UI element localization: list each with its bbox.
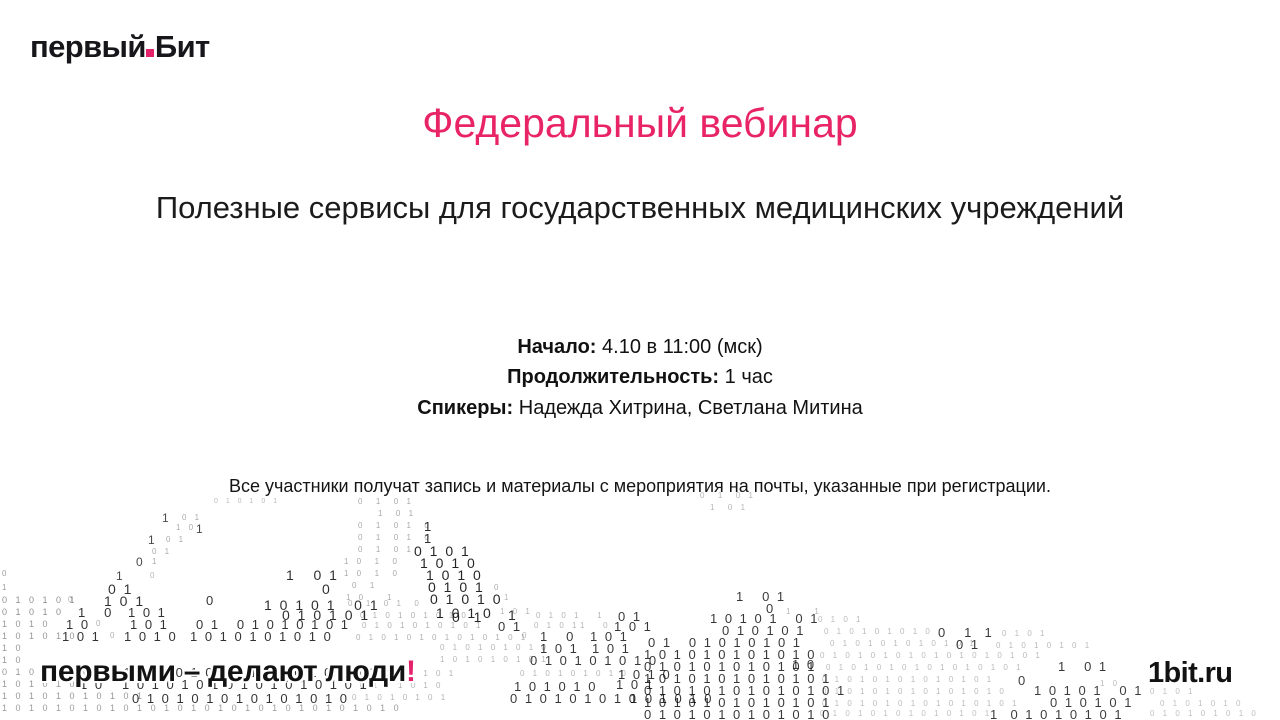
binary-digit-row: 1 0 1 — [378, 510, 416, 518]
binary-digit-row: 1 0 — [540, 630, 575, 643]
binary-digit-row: 1 0 1 0 — [344, 558, 400, 566]
binary-digit-row: 1 0 1 0 1 0 1 0 1 0 1 0 — [644, 648, 817, 661]
binary-digit-row: 0 — [206, 594, 215, 607]
binary-digit-row: 1 — [148, 534, 157, 546]
binary-digit-row: 1 0 1 — [1058, 660, 1108, 673]
detail-value-start: 4.10 в 11:00 (мск) — [602, 336, 763, 358]
detail-label-start: Начало: — [517, 336, 596, 358]
binary-digit-row: 0 1 0 1 0 1 0 1 0 1 — [196, 618, 350, 631]
binary-digit-row: 1 0 — [2, 644, 24, 653]
binary-digit-row: 1 0 — [634, 654, 658, 667]
binary-digit-row: 0 1 — [352, 582, 377, 590]
binary-digit-row: 1 0 1 0 — [344, 570, 400, 578]
brand-tagline-text: первыми – делают люди — [40, 655, 406, 688]
binary-digit-row: 0 1 — [452, 610, 483, 624]
binary-digit-row: 1 0 1 — [590, 630, 629, 643]
binary-digit-row: 1 — [504, 594, 511, 602]
binary-digit-row: 0 — [322, 582, 332, 596]
binary-digit-row: 1 0 1 0 1 0 — [630, 692, 713, 705]
binary-digit-row: 1 0 1 0 1 0 1 — [264, 598, 380, 612]
brand-logo-part1: первый — [30, 29, 146, 64]
binary-digit-row: 0 1 0 1 0 1 0 — [1160, 700, 1243, 708]
binary-digit-row: 0 1 — [152, 548, 172, 556]
binary-digit-row: 0 1 — [166, 536, 186, 544]
detail-row-duration: Продолжительность: 1 час — [0, 362, 1280, 392]
detail-label-speakers: Спикеры: — [417, 397, 513, 419]
detail-row-speakers: Спикеры: Надежда Хитрина, Светлана Митин… — [0, 393, 1280, 423]
binary-digit-row: 0 1 0 1 0 1 0 1 0 1 0 1 0 1 — [356, 634, 528, 642]
binary-digit-row: 1 0 1 0 1 0 — [514, 680, 597, 693]
binary-digit-row: 0 1 0 1 — [428, 580, 485, 594]
binary-digit-row: 0 1 0 1 0 — [2, 608, 64, 617]
event-details: Начало: 4.10 в 11:00 (мск) Продолжительн… — [0, 332, 1280, 423]
binary-digit-row: 1 — [424, 532, 433, 545]
binary-digit-row: 0 — [68, 596, 75, 604]
binary-digit-row: 0 — [766, 602, 775, 615]
binary-digit-row: 1 0 1 — [286, 568, 339, 582]
binary-digit-row: 0 1 — [618, 610, 642, 623]
binary-digit-row: 0 1 0 1 0 1 0 1 0 — [360, 612, 469, 620]
binary-digit-row: 1 0 1 0 1 0 1 — [1034, 684, 1144, 697]
binary-digit-row: 0 1 0 1 0 1 0 1 0 — [440, 644, 549, 652]
binary-digit-row: 1 0 1 0 1 0 1 0 1 — [440, 656, 549, 664]
binary-digit-row: 1 0 1 0 — [426, 568, 483, 582]
brand-tagline: первыми – делают люди! — [40, 655, 416, 689]
page-subtitle: Полезные сервисы для государственных мед… — [140, 188, 1140, 228]
binary-digit-row: 0 1 0 1 0 1 — [1050, 696, 1133, 709]
binary-digit-row: 0 1 — [956, 638, 980, 651]
registration-note: Все участники получат запись и материалы… — [0, 476, 1280, 497]
binary-digit-row: 1 0 1 — [346, 594, 394, 602]
binary-digit-row: 0 1 0 1 0 1 0 1 0 1 0 1 — [644, 660, 817, 673]
binary-digit-row: 1 0 — [78, 606, 113, 619]
binary-digit-row: 0 1 0 1 0 1 0 1 0 1 0 1 0 1 0 1 — [826, 664, 1024, 672]
binary-digit-row: 1 0 1 0 1 0 1 0 1 0 1 0 1 — [644, 672, 831, 685]
binary-digit-row: 1 0 1 — [540, 642, 579, 655]
binary-digit-row: 1 0 1 — [592, 642, 631, 655]
binary-digit-row: 1 0 1 0 1 0 1 0 1 0 1 0 1 — [644, 696, 831, 709]
page-title: Федеральный вебинар — [0, 101, 1280, 146]
binary-digit-row: 0 — [494, 584, 501, 592]
detail-row-start: Начало: 4.10 в 11:00 (мск) — [0, 332, 1280, 362]
binary-digit-row: 0 — [136, 556, 145, 568]
binary-digit-row: 1 0 1 — [104, 594, 145, 608]
binary-digit-row: 1 0 1 0 — [420, 556, 477, 570]
binary-digit-row: 0 1 0 1 0 1 0 1 0 — [520, 670, 629, 678]
detail-label-duration: Продолжительность: — [507, 366, 719, 388]
binary-digit-row: 0 1 0 1 0 — [358, 522, 432, 530]
binary-digit-row: 0 1 0 1 0 1 0 1 0 1 — [648, 636, 802, 649]
binary-digit-row: 0 — [110, 632, 117, 640]
binary-digit-row: 0 1 0 1 0 1 0 1 0 1 0 1 0 1 — [822, 676, 994, 684]
binary-digit-row: 0 1 0 1 — [358, 546, 414, 554]
binary-digit-row: 0 1 0 1 0 1 — [282, 608, 370, 622]
brand-logo: первыйБит — [30, 31, 210, 62]
binary-digit-row: 0 1 0 1 1 — [536, 612, 605, 620]
binary-digit-row: 0 1 0 1 0 1 0 1 0 1 0 1 0 1 0 — [132, 692, 349, 705]
binary-digit-row: 1 0 — [580, 622, 611, 630]
binary-digit-row: 1 0 1 0 — [124, 630, 178, 643]
binary-digit-row: 0 1 0 1 0 1 0 1 0 1 0 1 0 1 — [644, 684, 846, 697]
binary-digit-row: 0 1 0 1 — [818, 616, 863, 624]
binary-digit-row: 0 1 0 1 — [414, 544, 471, 558]
binary-digit-row: 1 0 1 0 1 0 1 — [710, 612, 820, 625]
binary-digit-row: 1 0 1 0 1 0 1 0 1 0 — [190, 630, 333, 643]
binary-digit-row: 0 1 0 1 0 1 0 1 — [996, 642, 1092, 650]
binary-digit-row: 0 1 0 1 0 1 0 1 — [352, 694, 448, 702]
binary-digit-row: 1 0 1 0 — [618, 668, 672, 681]
binary-digit-row: 0 1 0 1 — [534, 622, 579, 630]
binary-digit-row: 0 1 0 1 0 1 0 1 0 1 — [362, 622, 484, 630]
binary-digit-row: 0 1 0 1 0 1 0 1 0 1 0 1 — [830, 640, 977, 648]
binary-digit-row: 0 1 0 1 0 1 0 1 0 1 0 1 0 — [644, 708, 831, 720]
binary-digit-row: 0 1 1 — [938, 626, 994, 639]
binary-digit-row: 0 — [2, 570, 9, 578]
binary-digit-row: 1 0 1 0 1 0 — [2, 632, 78, 641]
binary-digit-row: 1 0 1 0 — [2, 620, 51, 629]
binary-digit-row: 0 1 0 1 0 1 — [2, 596, 78, 605]
binary-digit-row: 0 1 0 1 0 — [348, 600, 422, 608]
binary-digit-row: 1 0 — [1100, 680, 1120, 688]
binary-digit-row: 1 0 1 — [616, 678, 655, 691]
binary-digit-row: 0 1 0 1 0 1 — [722, 624, 805, 637]
binary-digit-row: 1 0 1 — [710, 504, 748, 512]
binary-digit-row: 1 — [162, 512, 171, 524]
binary-digit-row: 1 — [2, 584, 9, 592]
binary-digit-row: 0 1 0 1 0 1 0 1 0 — [510, 692, 638, 705]
binary-digit-row: 0 1 0 1 — [1002, 630, 1047, 638]
binary-digit-row: 1 0 1 — [130, 618, 169, 631]
binary-digit-row: 0 1 0 1 0 — [358, 534, 432, 542]
binary-digit-row: 0 — [522, 632, 529, 640]
binary-digit-row: 1 1 — [786, 608, 822, 616]
binary-digit-row: 1 0 1 — [736, 590, 786, 603]
binary-digit-row: 1 0 — [176, 524, 196, 532]
binary-digit-row: 0 1 0 1 0 1 0 1 0 — [1150, 710, 1259, 718]
binary-digit-row: 0 — [1018, 674, 1027, 687]
binary-digit-row: 0 1 0 1 0 1 0 1 0 1 0 1 0 1 — [820, 710, 992, 718]
binary-digit-row: 0 1 0 1 0 1 0 1 0 1 0 1 0 1 0 1 — [822, 700, 1020, 708]
binary-digit-row: 1 — [424, 520, 433, 533]
brand-logo-part2: Бит — [155, 29, 210, 64]
binary-digit-row: 0 1 0 1 0 — [430, 592, 503, 606]
binary-digit-row: 1 0 — [2, 656, 24, 665]
binary-digit-row: 0 1 — [498, 620, 522, 633]
binary-digit-row: 1 0 1 0 — [436, 606, 493, 620]
binary-digit-row: 0 1 0 1 0 1 0 1 0 1 0 1 0 1 0 1 0 1 — [820, 652, 1043, 660]
webinar-slide: первыйБит Федеральный вебинар Полезные с… — [0, 0, 1280, 720]
binary-digit-row: 0 1 — [182, 514, 202, 522]
binary-digit-row: 1 — [196, 523, 205, 535]
binary-digit-row: 1 0 1 — [62, 630, 101, 643]
binary-digit-row: 0 1 0 1 0 1 0 1 0 — [824, 628, 933, 636]
binary-digit-row: 1 0 1 — [128, 606, 167, 619]
binary-digit-row: 0 1 0 1 — [358, 498, 414, 506]
binary-digit-row: 0 — [96, 620, 103, 628]
brand-site-url: 1bit.ru — [1148, 657, 1232, 690]
binary-digit-row: 1 — [116, 570, 125, 582]
binary-digit-row: 0 1 0 1 0 1 — [214, 498, 280, 505]
binary-digit-row: 0 1 — [108, 582, 133, 596]
binary-digit-row: 1 0 1 0 1 0 1 0 1 — [990, 708, 1124, 720]
brand-tagline-bang: ! — [406, 655, 416, 688]
binary-digit-row: 1 — [152, 558, 159, 566]
binary-digit-row: 1 — [508, 608, 518, 622]
detail-value-duration: 1 час — [725, 366, 773, 388]
binary-digit-row: 0 — [150, 572, 157, 580]
binary-digit-row: 1 0 — [66, 618, 90, 631]
brand-dot-icon — [146, 49, 154, 57]
detail-value-speakers: Надежда Хитрина, Светлана Митина — [519, 397, 863, 419]
binary-digit-row: 1 0 1 — [614, 620, 653, 633]
binary-digit-row: 0 1 0 1 0 1 0 — [530, 654, 628, 667]
binary-digit-row: 0 1 0 1 0 1 0 1 0 1 0 1 0 1 0 — [822, 688, 1007, 696]
binary-digit-row: 1 0 1 0 1 0 1 0 1 0 1 — [2, 692, 145, 701]
binary-digit-row: 1 0 1 0 1 0 1 0 1 0 1 0 1 0 1 0 1 0 1 0 … — [2, 704, 402, 713]
binary-digit-row: 1 0 1 — [500, 608, 533, 616]
binary-digit-row: 1 0 — [792, 658, 816, 671]
